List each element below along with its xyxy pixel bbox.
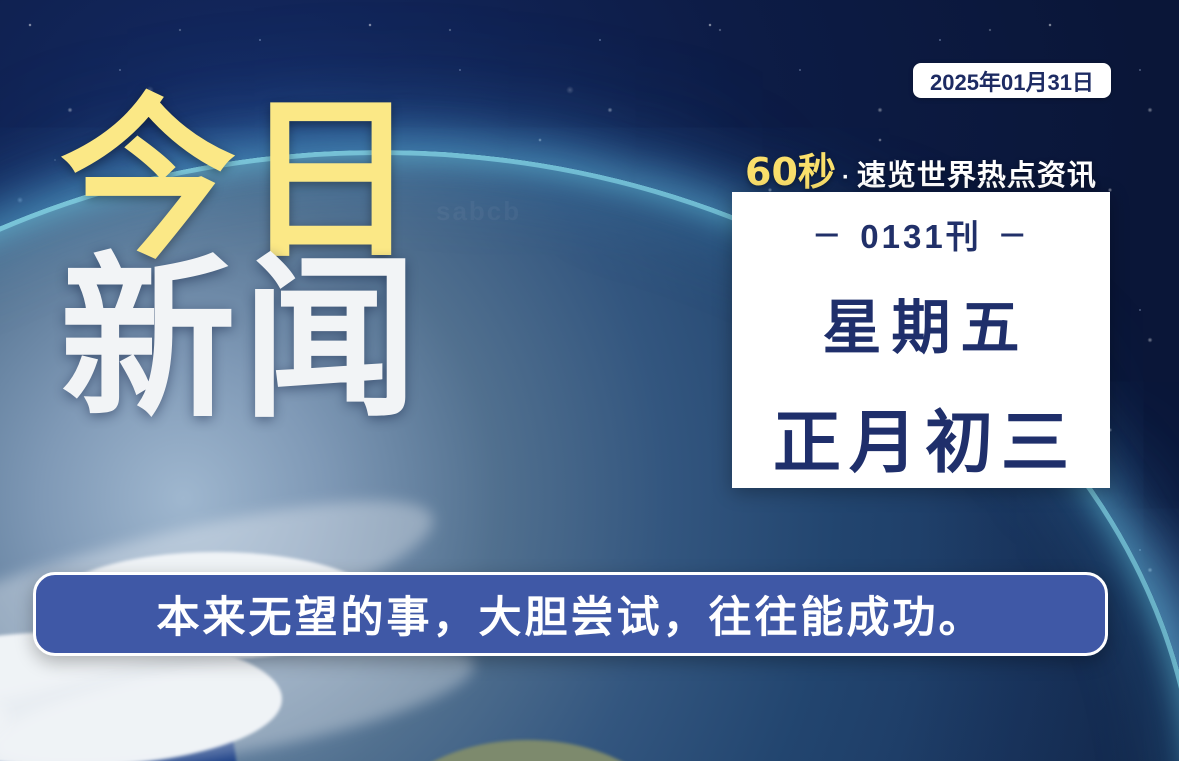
issue-number: 0131刊 <box>860 210 981 258</box>
news-poster: sabcb 今日 新闻 2025年01月31日 60秒 · 速览世界热点资讯 －… <box>0 0 1179 761</box>
weekday-label: 星期五 <box>812 280 1029 365</box>
lunar-date-label: 正月初三 <box>765 387 1077 486</box>
page-title: 今日 新闻 <box>60 96 424 425</box>
issue-dash-right: － <box>998 213 1030 255</box>
tagline-separator: · <box>842 164 850 192</box>
tagline: 60秒 · 速览世界热点资讯 <box>745 141 1097 196</box>
date-badge-label: 2025年01月31日 <box>930 65 1094 97</box>
date-badge: 2025年01月31日 <box>913 63 1111 98</box>
quote-bar: 本来无望的事，大胆尝试，往往能成功。 <box>33 572 1108 656</box>
tagline-seconds: 60秒 <box>745 141 836 196</box>
title-line-news: 新闻 <box>60 255 424 426</box>
tagline-description: 速览世界热点资讯 <box>857 152 1097 194</box>
quote-text: 本来无望的事，大胆尝试，往往能成功。 <box>157 583 985 645</box>
info-card: － 0131刊 － 星期五 正月初三 <box>732 192 1110 488</box>
issue-line: － 0131刊 － <box>796 210 1045 258</box>
watermark-text: sabcb <box>436 196 521 227</box>
issue-dash-left: － <box>812 213 844 255</box>
